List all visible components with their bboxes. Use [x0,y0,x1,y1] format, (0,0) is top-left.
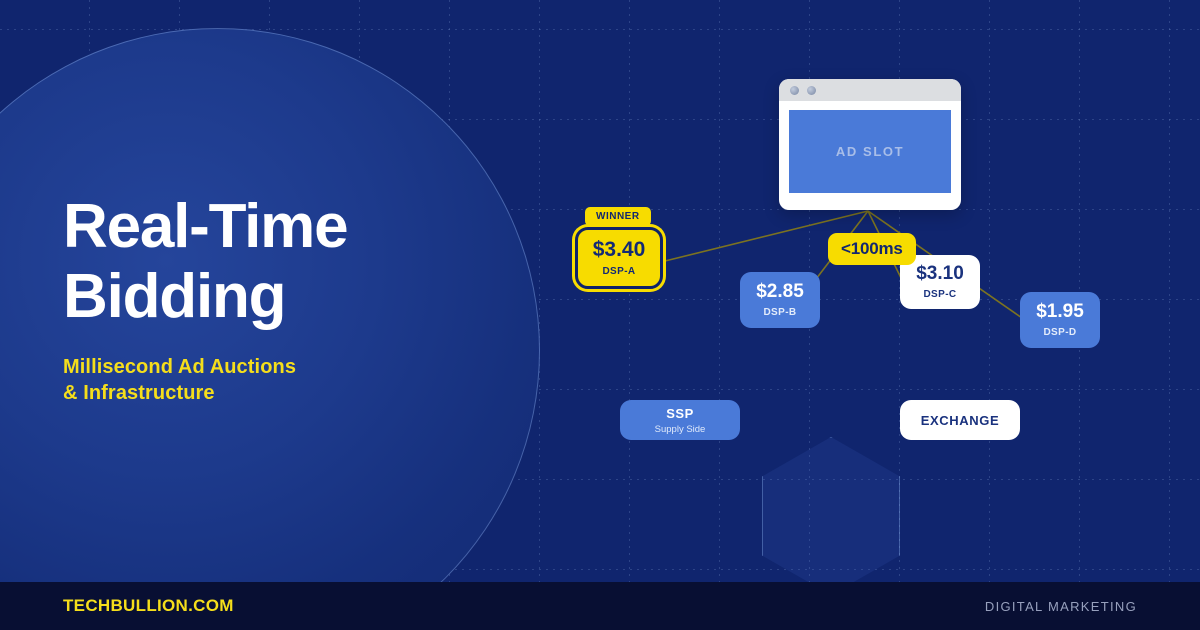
bid-amount: $3.10 [916,264,964,283]
bid-card-dsp-d[interactable]: $1.95 DSP-D [1020,292,1100,348]
bid-amount: $2.85 [756,282,804,301]
window-dot-icon [807,86,816,95]
footer-category: DIGITAL MARKETING [985,599,1137,614]
hero-block: Real-Time Bidding Millisecond Ad Auction… [63,192,523,406]
bid-card-dsp-b[interactable]: $2.85 DSP-B [740,272,820,328]
role-box-exchange[interactable]: EXCHANGE [900,400,1020,440]
role-title: EXCHANGE [921,413,999,428]
page-title: Real-Time Bidding [63,192,523,332]
footer-bar: TECHBULLION.COM DIGITAL MARKETING [0,582,1200,630]
footer-brand[interactable]: TECHBULLION.COM [63,596,234,616]
bid-amount: $3.40 [593,239,646,260]
ad-slot-placeholder: AD SLOT [789,110,951,193]
bid-amount: $1.95 [1036,302,1084,321]
ad-slot-label: AD SLOT [836,144,904,159]
page-subtitle: Millisecond Ad Auctions & Infrastructure [63,354,523,406]
winner-badge: WINNER [585,207,651,226]
browser-titlebar [779,79,961,101]
slide-canvas: Real-Time Bidding Millisecond Ad Auction… [0,0,1200,630]
bid-bidder-name: DSP-B [763,307,796,318]
latency-badge: <100ms [828,233,916,265]
role-title: SSP [666,406,694,421]
window-dot-icon [790,86,799,95]
bid-bidder-name: DSP-D [1043,327,1076,338]
browser-mockup: AD SLOT [779,79,961,210]
bid-bidder-name: DSP-C [923,289,956,300]
bid-card-dsp-a[interactable]: $3.40 DSP-A [575,227,663,289]
role-box-ssp[interactable]: SSP Supply Side [620,400,740,440]
role-subtitle: Supply Side [655,424,706,435]
bid-bidder-name: DSP-A [602,266,635,277]
